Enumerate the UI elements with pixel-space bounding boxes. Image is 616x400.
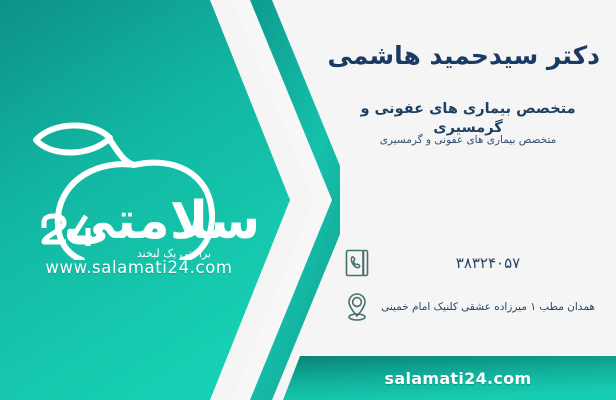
apple-leaf-icon: سلامتی براحتی یک لبخند: [14, 110, 264, 260]
logo-url-text: www.salamati24.com: [14, 258, 264, 277]
phone-book-icon: [342, 246, 372, 280]
info-panel: دکتر سیدحمید هاشمی متخصص بیماری های عفون…: [316, 0, 616, 400]
doctor-specialty-sub: متخصص بیماری های عفونی و گرمسیری: [332, 134, 604, 148]
brand-logo: سلامتی براحتی یک لبخند www.salamati24.co…: [14, 110, 264, 285]
footer-site-url[interactable]: salamati24.com: [300, 356, 616, 400]
doctor-specialty-main: متخصص بیماری های عفونی و گرمسیری: [332, 100, 604, 138]
doctor-name: دکتر سیدحمید هاشمی: [332, 40, 600, 71]
logo-word-text: سلامتی: [64, 191, 261, 251]
address-text: همدان مطب ۱ میرزاده عشقی کلنیک امام خمین…: [372, 301, 598, 313]
business-card: سلامتی براحتی یک لبخند www.salamati24.co…: [0, 0, 616, 400]
contact-row-address[interactable]: همدان مطب ۱ میرزاده عشقی کلنیک امام خمین…: [332, 290, 598, 324]
phone-number: ۳۸۳۲۴۰۵۷: [372, 254, 598, 272]
contact-row-phone[interactable]: ۳۸۳۲۴۰۵۷: [332, 246, 598, 280]
map-pin-icon: [342, 290, 372, 324]
